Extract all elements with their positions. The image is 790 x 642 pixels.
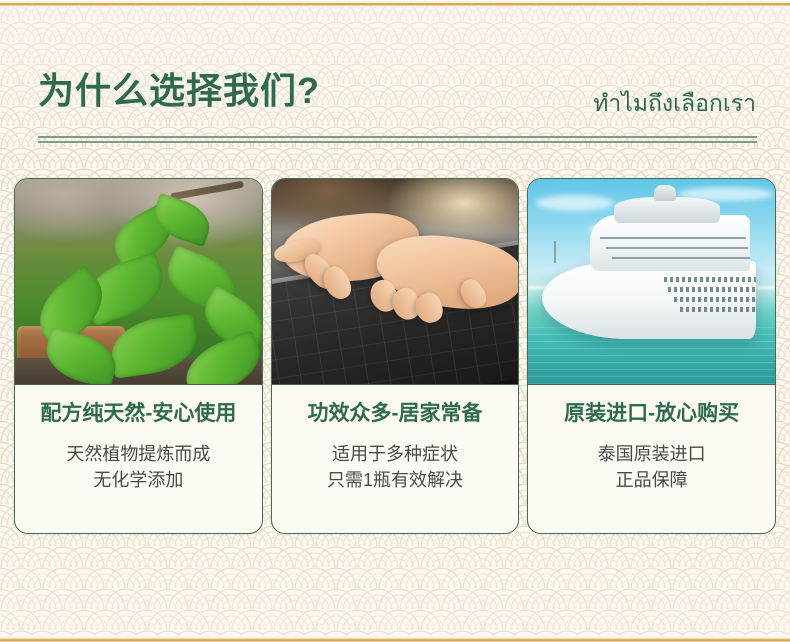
card-heading: 配方纯天然-安心使用 [25, 397, 252, 427]
mint-plant-photo [15, 179, 262, 385]
cloud [536, 195, 614, 211]
cruise-ship-photo [528, 179, 775, 385]
divider-line-bottom [38, 141, 757, 143]
top-gold-border [0, 0, 790, 6]
card-description-line: 适用于多种症状 [282, 441, 509, 467]
deck-line [606, 247, 748, 249]
card-body: 功效众多-居家常备 适用于多种症状 只需1瓶有效解决 [272, 385, 519, 533]
card-description-line: 无化学添加 [25, 467, 252, 493]
card-description-line: 正品保障 [538, 467, 765, 493]
hands-typing-keyboard-photo [272, 179, 519, 385]
feature-card[interactable]: 配方纯天然-安心使用 天然植物提炼而成 无化学添加 [14, 178, 263, 534]
mint-plant-image [15, 179, 262, 384]
divider-line-top [38, 136, 757, 138]
card-description: 适用于多种症状 只需1瓶有效解决 [282, 441, 509, 493]
card-heading: 功效众多-居家常备 [282, 397, 509, 427]
card-body: 原装进口-放心购买 泰国原装进口 正品保障 [528, 385, 775, 533]
feature-card[interactable]: 功效众多-居家常备 适用于多种症状 只需1瓶有效解决 [271, 178, 520, 534]
card-description-line: 天然植物提炼而成 [25, 441, 252, 467]
card-description: 泰国原装进口 正品保障 [538, 441, 765, 493]
cruise-ship-image [528, 179, 775, 384]
feature-card-list: 配方纯天然-安心使用 天然植物提炼而成 无化学添加 [14, 178, 776, 534]
page-subtitle-thai: ทำไมถึงเลือกเรา [593, 86, 756, 122]
keyboard-image [272, 179, 519, 384]
window-row [674, 297, 756, 302]
deck-line [600, 237, 746, 239]
card-description-line: 只需1瓶有效解决 [282, 467, 509, 493]
card-description-line: 泰国原装进口 [538, 441, 765, 467]
window-row [680, 307, 756, 312]
ship-funnel [654, 185, 676, 201]
card-body: 配方纯天然-安心使用 天然植物提炼而成 无化学添加 [15, 385, 262, 533]
card-description: 天然植物提炼而成 无化学添加 [25, 441, 252, 493]
deck-line [612, 257, 750, 259]
twig-decor [170, 181, 244, 201]
promo-banner: 为什么选择我们? ทำไมถึงเลือกเรา [0, 0, 790, 642]
card-heading: 原装进口-放心购买 [538, 397, 765, 427]
page-title: 为什么选择我们? [38, 62, 320, 114]
ship-mast [554, 241, 556, 263]
header-divider [38, 136, 757, 144]
header: 为什么选择我们? ทำไมถึงเลือกเรา [0, 62, 790, 138]
window-row [668, 287, 756, 292]
window-row [664, 277, 756, 282]
bottom-gold-border [0, 635, 790, 642]
ship-superstructure [590, 215, 750, 271]
feature-card[interactable]: 原装进口-放心购买 泰国原装进口 正品保障 [527, 178, 776, 534]
